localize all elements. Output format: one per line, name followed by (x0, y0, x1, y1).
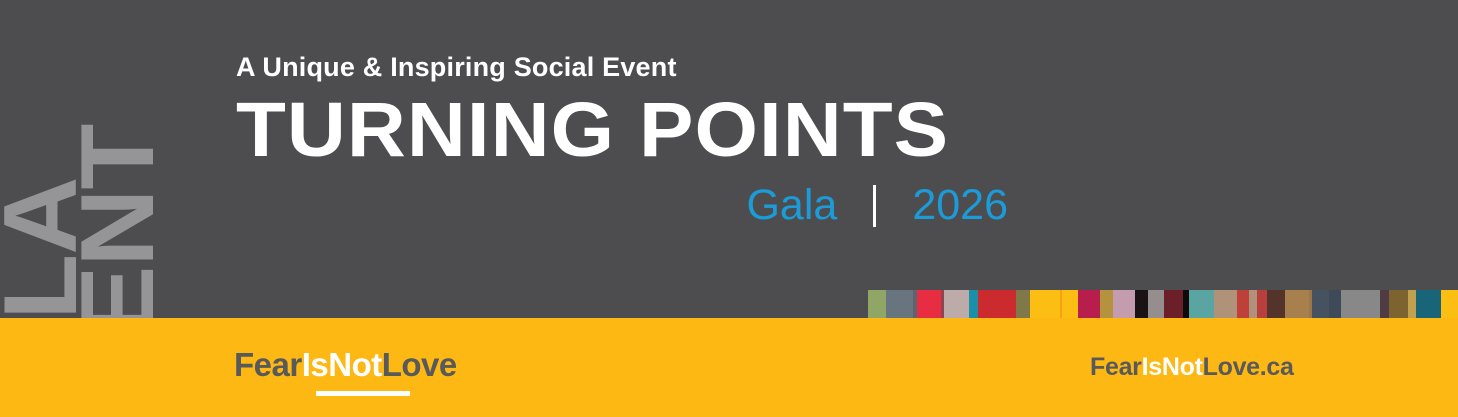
color-stripe (917, 290, 941, 318)
logo-underline-rule (316, 391, 410, 396)
color-stripe (1164, 290, 1183, 318)
color-stripe (1285, 290, 1309, 318)
color-stripe (1078, 290, 1100, 318)
color-stripe (886, 290, 913, 318)
watermark-inner: GALA EVENT (0, 150, 160, 318)
url-wordmark: FearIsNotLove.ca (1090, 355, 1294, 380)
url-part-fear: Fear (1090, 353, 1142, 381)
color-stripe (944, 290, 969, 318)
subtitle-row: Gala 2026 (236, 182, 1008, 230)
color-stripe (1380, 290, 1389, 318)
color-stripe-band (868, 290, 1458, 318)
subtitle-gala: Gala (746, 184, 837, 227)
color-stripe (1441, 290, 1458, 318)
eyebrow-text: A Unique & Inspiring Social Event (236, 54, 1026, 81)
watermark-line-event: EVENT (77, 137, 160, 318)
color-stripe (1113, 290, 1135, 318)
color-stripe (978, 290, 1016, 318)
fearisnotlove-logo: FearIsNotLove (234, 348, 514, 396)
logo-part-fear: Fear (234, 346, 302, 383)
color-stripe (1389, 290, 1408, 318)
subtitle-divider-icon (873, 185, 876, 227)
url-part-love-ca: Love.ca (1203, 353, 1294, 381)
headline-block: A Unique & Inspiring Social Event TURNIN… (236, 54, 1026, 230)
color-stripe (1148, 290, 1164, 318)
website-url[interactable]: FearIsNotLove.ca (1090, 355, 1294, 380)
color-stripe (1408, 290, 1416, 318)
color-stripe (1416, 290, 1441, 318)
color-stripe (1100, 290, 1113, 318)
logo-part-love: Love (382, 346, 457, 383)
color-stripe (1214, 290, 1237, 318)
color-stripe (1062, 290, 1078, 318)
gala-event-banner: GALA EVENT A Unique & Inspiring Social E… (0, 0, 1458, 417)
color-stripe (1257, 290, 1267, 318)
color-stripe (1341, 290, 1380, 318)
color-stripe (1016, 290, 1030, 318)
logo-wordmark: FearIsNotLove (234, 348, 514, 381)
url-part-isnot: IsNot (1142, 353, 1203, 381)
page-title: TURNING POINTS (236, 94, 1073, 168)
gala-event-watermark: GALA EVENT (0, 0, 160, 318)
logo-part-isnot: IsNot (302, 346, 382, 383)
color-stripe (1249, 290, 1257, 318)
color-stripe (1237, 290, 1249, 318)
subtitle-year: 2026 (912, 184, 1008, 227)
color-stripe (1267, 290, 1285, 318)
color-stripe (1135, 290, 1148, 318)
color-stripe (868, 290, 886, 318)
color-stripe (1312, 290, 1329, 318)
color-stripe (969, 290, 978, 318)
color-stripe (1189, 290, 1214, 318)
color-stripe (1030, 290, 1060, 318)
color-stripe (1329, 290, 1341, 318)
